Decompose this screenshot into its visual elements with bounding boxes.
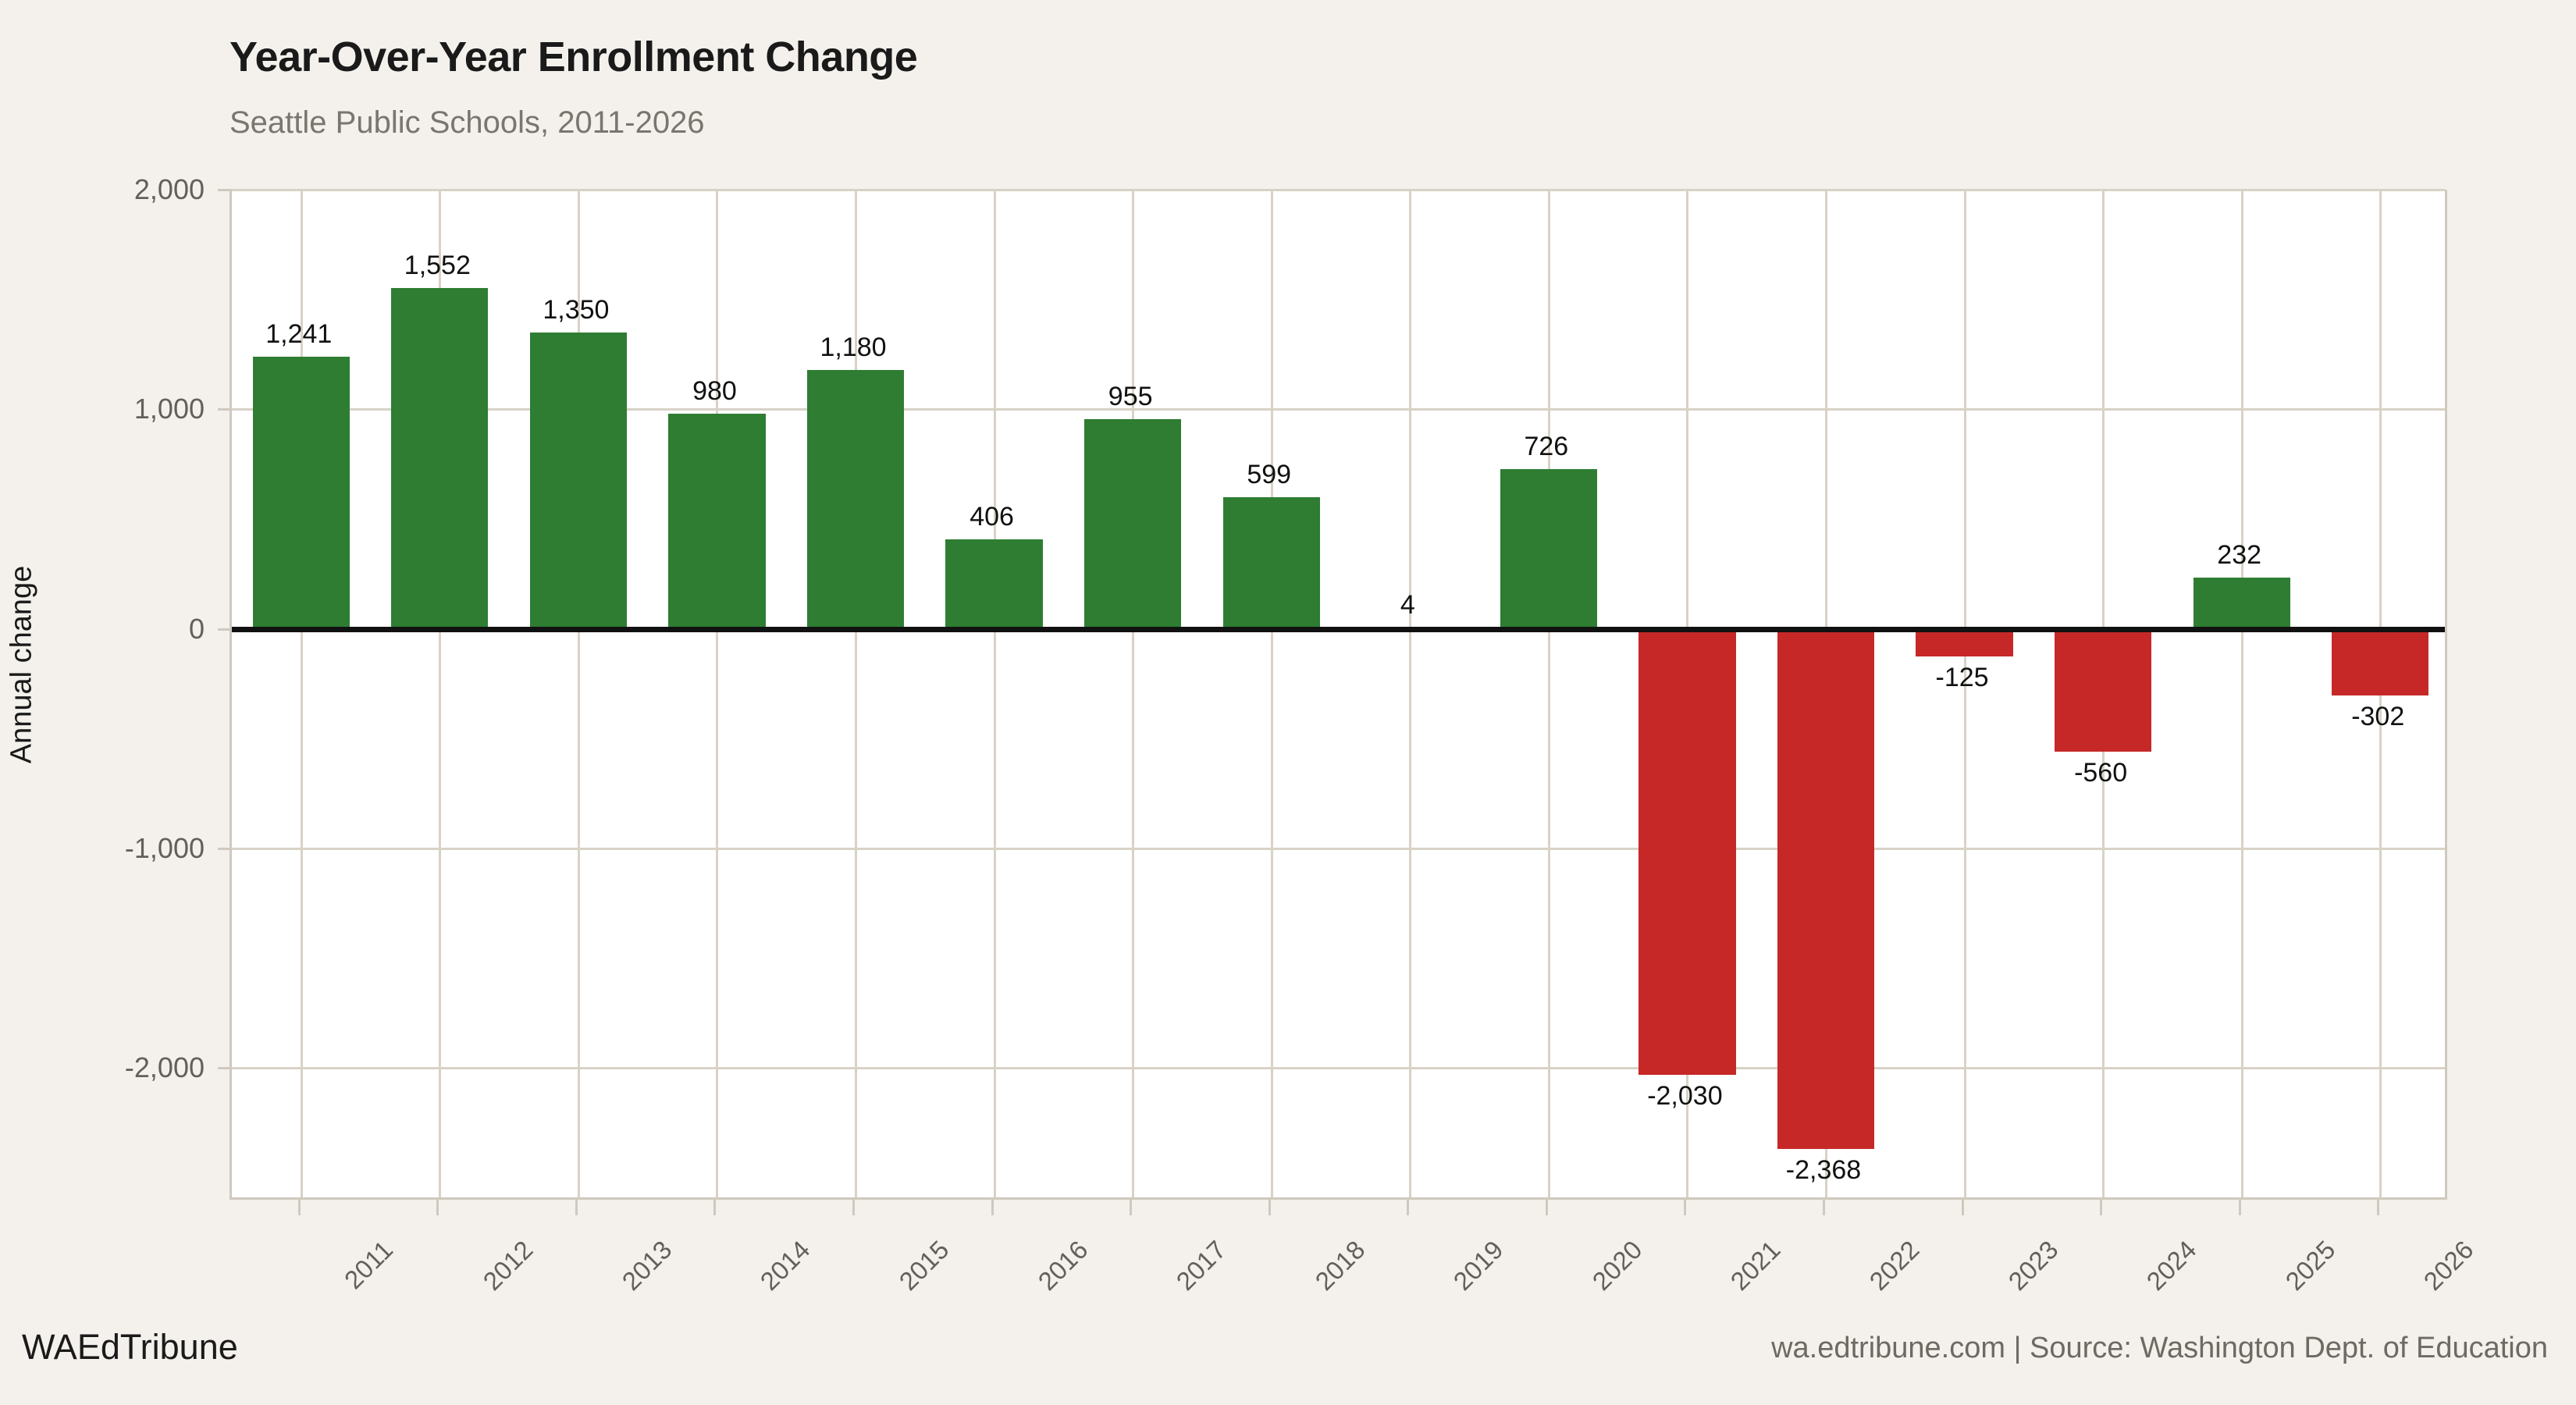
x-axis-tick-label-2011: 2011 <box>339 1235 399 1295</box>
y-gridline <box>232 189 2445 191</box>
x-gridline <box>2241 190 2243 1197</box>
bar-value-label-2015: 1,180 <box>820 333 886 363</box>
bar-2018[interactable] <box>1223 497 1320 629</box>
bar-value-label-2018: 599 <box>1247 460 1291 490</box>
x-axis-tick <box>575 1200 578 1215</box>
x-gridline <box>716 190 718 1197</box>
x-axis-tick <box>852 1200 855 1215</box>
y-gridline <box>232 1067 2445 1069</box>
x-axis-tick <box>2377 1200 2379 1215</box>
page-title: Year-Over-Year Enrollment Change <box>229 33 917 81</box>
page-subtitle: Seattle Public Schools, 2011-2026 <box>229 105 705 140</box>
plot-area <box>229 190 2447 1200</box>
bar-2026[interactable] <box>2332 629 2428 695</box>
bar-2017[interactable] <box>1084 419 1181 629</box>
x-gridline <box>1964 190 1966 1197</box>
x-gridline <box>1271 190 1273 1197</box>
bar-value-label-2012: 1,552 <box>404 251 471 281</box>
x-axis-tick-label-2015: 2015 <box>894 1235 955 1297</box>
x-axis-tick-label-2016: 2016 <box>1032 1235 1094 1297</box>
bar-value-label-2011: 1,241 <box>265 319 332 350</box>
x-axis-tick-label-2019: 2019 <box>1448 1235 1510 1297</box>
bar-2016[interactable] <box>945 539 1042 628</box>
x-axis-tick <box>713 1200 716 1215</box>
x-axis-tick-label-2023: 2023 <box>2002 1235 2064 1297</box>
y-axis-tick-label: -1,000 <box>125 832 205 865</box>
x-axis-tick <box>2239 1200 2241 1215</box>
x-axis-tick-label-2021: 2021 <box>1725 1235 1787 1297</box>
bar-value-label-2021: -2,030 <box>1647 1081 1722 1112</box>
x-axis-tick-label-2012: 2012 <box>478 1235 539 1297</box>
bar-value-label-2019: 4 <box>1400 590 1415 621</box>
y-axis-title: Annual change <box>5 236 39 1094</box>
bar-value-label-2025: 232 <box>2217 540 2261 571</box>
bar-value-label-2016: 406 <box>970 502 1014 532</box>
bar-2014[interactable] <box>668 414 765 629</box>
x-axis-tick <box>991 1200 994 1215</box>
x-axis-tick <box>1268 1200 1271 1215</box>
bar-2021[interactable] <box>1638 629 1735 1075</box>
x-axis-tick-label-2017: 2017 <box>1171 1235 1233 1297</box>
bar-value-label-2014: 980 <box>692 376 737 407</box>
footer-brand: WAEdTribune <box>22 1327 238 1368</box>
x-axis-tick <box>298 1200 301 1215</box>
zero-line <box>232 627 2445 632</box>
bar-2020[interactable] <box>1500 469 1597 628</box>
bar-2023[interactable] <box>1916 629 2012 656</box>
y-axis-tick-label: 2,000 <box>134 173 205 206</box>
x-gridline <box>1548 190 1550 1197</box>
bar-value-label-2013: 1,350 <box>543 295 609 325</box>
bar-value-label-2023: -125 <box>1936 663 1989 693</box>
bar-2024[interactable] <box>2055 629 2151 752</box>
x-axis-tick <box>1130 1200 1132 1215</box>
x-axis-tick-label-2025: 2025 <box>2279 1235 2341 1297</box>
y-axis-tick-label: 0 <box>189 613 205 646</box>
x-gridline <box>1409 190 1411 1197</box>
x-axis-tick-label-2026: 2026 <box>2418 1235 2480 1297</box>
x-axis-tick <box>1407 1200 1409 1215</box>
x-axis-tick-label-2024: 2024 <box>2141 1235 2203 1297</box>
footer-source: wa.edtribune.com | Source: Washington De… <box>1771 1332 2548 1365</box>
x-axis-tick <box>436 1200 439 1215</box>
x-axis-tick <box>2100 1200 2102 1215</box>
bar-value-label-2024: -560 <box>2074 758 2127 788</box>
x-axis-tick-label-2018: 2018 <box>1309 1235 1371 1297</box>
bar-value-label-2020: 726 <box>1524 432 1568 462</box>
x-axis-tick <box>1684 1200 1686 1215</box>
bar-2015[interactable] <box>807 370 904 629</box>
x-axis-tick-label-2020: 2020 <box>1586 1235 1648 1297</box>
x-axis-tick-label-2022: 2022 <box>1863 1235 1925 1297</box>
bar-value-label-2026: -302 <box>2351 702 2404 732</box>
bar-2011[interactable] <box>253 357 350 629</box>
y-axis-tick-label: -2,000 <box>125 1051 205 1084</box>
chart-page: Year-Over-Year Enrollment Change Seattle… <box>0 0 2576 1405</box>
bar-2025[interactable] <box>2194 578 2290 628</box>
x-axis-tick <box>1962 1200 1964 1215</box>
x-axis-tick-label-2013: 2013 <box>616 1235 678 1297</box>
x-axis-tick-label-2014: 2014 <box>755 1235 817 1297</box>
bar-2013[interactable] <box>530 333 627 629</box>
y-gridline <box>232 848 2445 850</box>
x-axis-tick <box>1823 1200 1825 1215</box>
bar-value-label-2022: -2,368 <box>1786 1155 1861 1186</box>
x-gridline <box>994 190 996 1197</box>
x-gridline <box>1132 190 1134 1197</box>
bar-value-label-2017: 955 <box>1108 382 1153 412</box>
y-axis-tick-label: 1,000 <box>134 393 205 425</box>
bar-2022[interactable] <box>1777 629 1874 1149</box>
x-axis-tick <box>1546 1200 1548 1215</box>
bar-2012[interactable] <box>391 288 488 629</box>
